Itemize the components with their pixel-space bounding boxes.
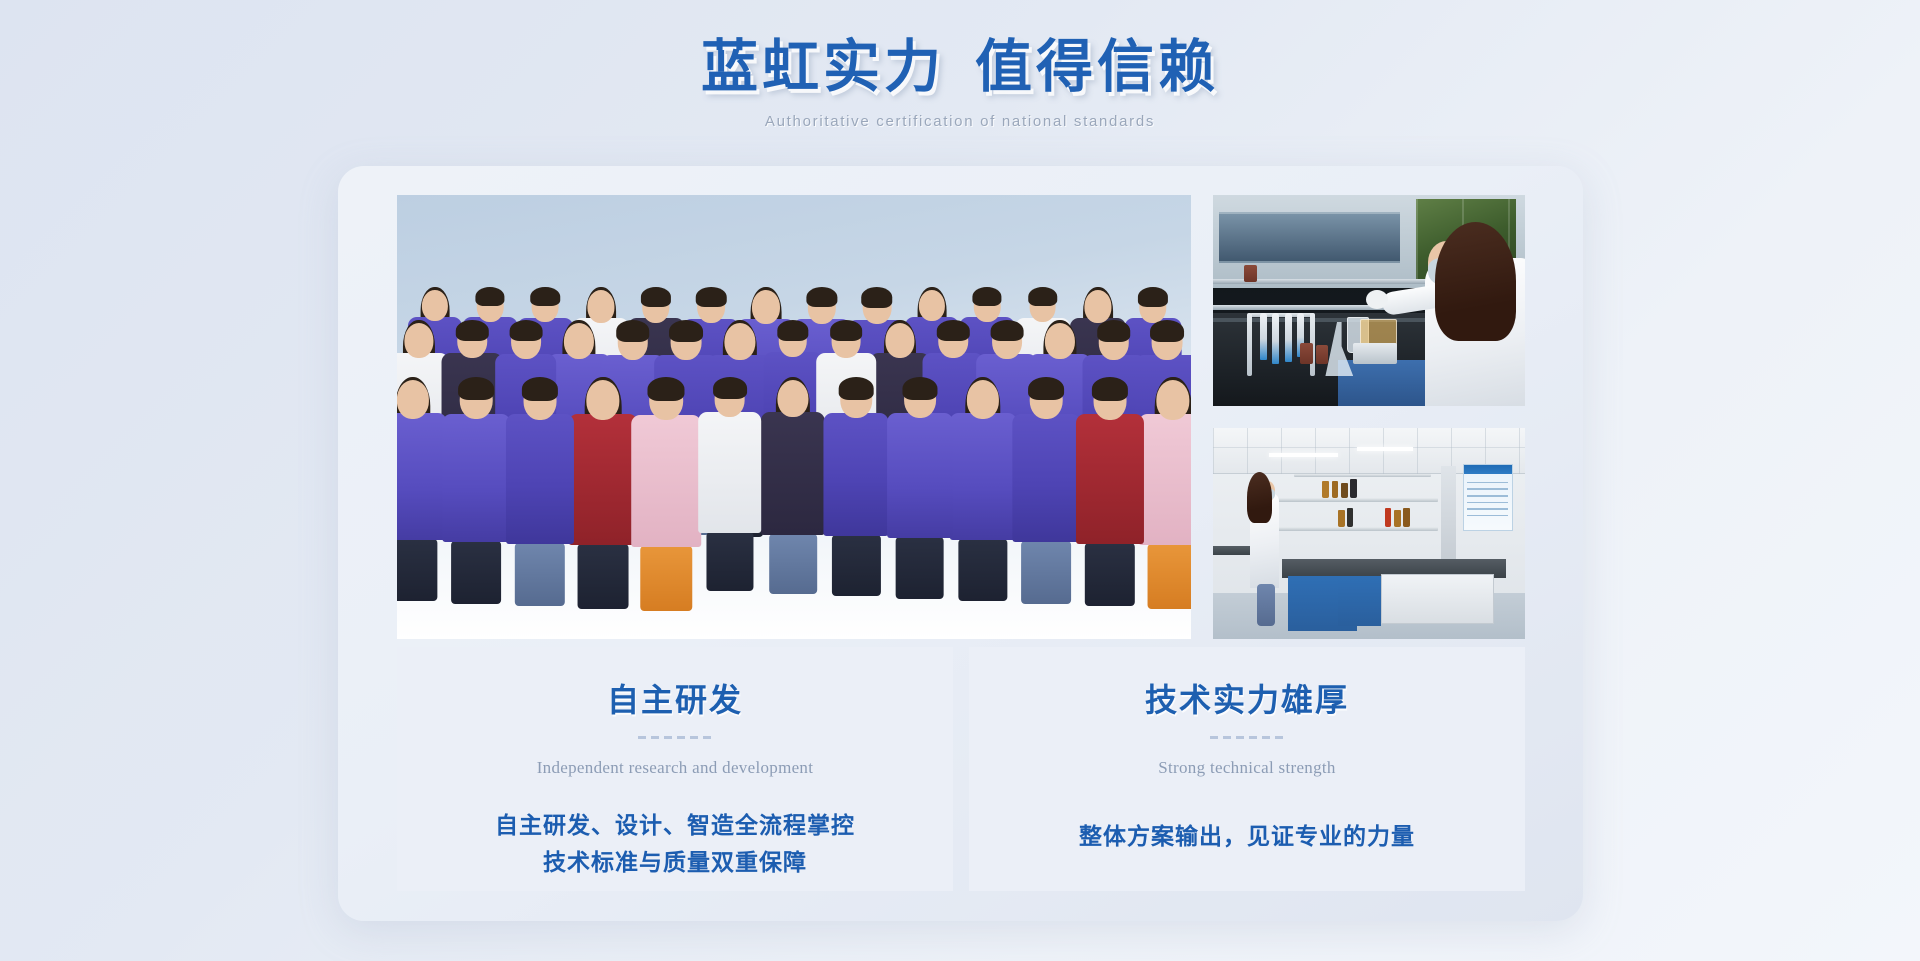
team-member-legs bbox=[641, 546, 692, 611]
team-member bbox=[887, 380, 953, 586]
team-member-legs bbox=[832, 535, 880, 596]
lab2-cabinet-blue-2 bbox=[1338, 576, 1382, 627]
team-member-head bbox=[967, 380, 999, 419]
team-member bbox=[506, 380, 574, 593]
team-member-legs bbox=[1021, 541, 1071, 604]
content-panel: 自主研发 Independent research and developmen… bbox=[338, 166, 1583, 921]
lab2-safety-poster bbox=[1463, 464, 1513, 532]
page-title: 蓝虹实力值得信赖 bbox=[0, 34, 1920, 101]
lab2-scene bbox=[1213, 428, 1525, 639]
team-member-legs bbox=[397, 539, 438, 601]
lab2-shelf-top bbox=[1294, 474, 1431, 477]
lab1-technician-glove bbox=[1366, 290, 1388, 309]
team-member-hair bbox=[937, 320, 969, 341]
lab2-bottle-2 bbox=[1332, 481, 1339, 498]
team-member-head bbox=[1084, 290, 1111, 323]
team-member bbox=[632, 380, 702, 598]
team-member-head bbox=[724, 323, 755, 360]
team-member-legs bbox=[769, 534, 817, 594]
team-member-head bbox=[587, 290, 614, 323]
feature-card-rnd-divider bbox=[638, 736, 712, 739]
team-member-head bbox=[1156, 380, 1189, 420]
lab2-shelf-upper bbox=[1275, 498, 1437, 502]
lab2-bottle-9 bbox=[1403, 508, 1409, 527]
feature-card-rnd-english: Independent research and development bbox=[397, 758, 953, 778]
feature-card-technical-description: 整体方案输出，见证专业的力量 bbox=[969, 818, 1525, 855]
feature-card-rnd-title: 自主研发 bbox=[397, 675, 953, 721]
team-member-uniform bbox=[506, 414, 574, 544]
team-member-uniform bbox=[397, 413, 446, 540]
feature-card-technical-desc-line-1: 整体方案输出，见证专业的力量 bbox=[969, 818, 1525, 855]
team-member-legs bbox=[706, 532, 753, 592]
team-member-hair bbox=[861, 287, 893, 308]
team-member-legs bbox=[578, 544, 629, 608]
team-member-uniform bbox=[1013, 414, 1080, 542]
team-member-hair bbox=[669, 320, 703, 342]
team-member-uniform bbox=[1139, 414, 1191, 545]
lab1-pipette-3 bbox=[1285, 313, 1292, 362]
team-member bbox=[824, 380, 889, 584]
team-member-hair bbox=[1097, 320, 1131, 342]
team-member-head bbox=[564, 323, 594, 359]
lab1-pipette-2 bbox=[1272, 313, 1279, 364]
team-member-hair bbox=[509, 320, 542, 341]
team-member-hair bbox=[1092, 377, 1128, 401]
team-member-hair bbox=[902, 377, 937, 400]
team-member-uniform bbox=[761, 412, 825, 534]
team-member-legs bbox=[958, 539, 1007, 601]
lab2-bottle-5 bbox=[1338, 510, 1345, 527]
team-member-hair bbox=[531, 287, 561, 306]
page-title-part2: 值得信赖 bbox=[975, 36, 1219, 99]
team-member bbox=[569, 380, 638, 595]
team-member bbox=[1139, 380, 1191, 595]
team-member-legs bbox=[895, 537, 944, 599]
team-member-hair bbox=[839, 377, 874, 400]
team-member-head bbox=[777, 380, 808, 417]
team-member-head bbox=[752, 290, 780, 324]
team-member bbox=[761, 380, 825, 581]
team-member-hair bbox=[476, 287, 505, 306]
team-member bbox=[1013, 380, 1080, 591]
lab2-bottle-4 bbox=[1350, 479, 1356, 498]
team-member-hair bbox=[696, 287, 727, 307]
team-member-legs bbox=[1148, 544, 1191, 608]
lab1-glass-cabinet bbox=[1219, 212, 1400, 263]
team-member bbox=[443, 380, 510, 591]
team-member-hair bbox=[648, 377, 685, 401]
team-member-legs bbox=[451, 541, 501, 604]
lab1-shelf-bottle bbox=[1244, 265, 1256, 282]
team-member-uniform bbox=[824, 413, 889, 537]
team-members-group bbox=[397, 195, 1191, 639]
team-member-hair bbox=[1150, 320, 1184, 342]
team-member-hair bbox=[990, 320, 1023, 341]
team-member-hair bbox=[973, 287, 1002, 306]
side-photo-column bbox=[1213, 195, 1525, 639]
team-member-legs bbox=[1084, 543, 1134, 607]
team-member-head bbox=[885, 323, 914, 358]
page-title-part1: 蓝虹实力 bbox=[701, 36, 945, 99]
lab2-cabinet-white bbox=[1381, 574, 1493, 625]
team-member-legs bbox=[514, 543, 564, 607]
lab2-shelf-lower bbox=[1275, 527, 1437, 531]
lab2-bottle-8 bbox=[1394, 510, 1401, 527]
page-subtitle: Authoritative certification of national … bbox=[0, 113, 1920, 130]
lab1-tube-rack bbox=[1353, 343, 1397, 364]
team-member-hair bbox=[458, 377, 494, 400]
team-member-hair bbox=[713, 377, 747, 399]
feature-card-technical-english: Strong technical strength bbox=[969, 758, 1525, 778]
feature-card-technical[interactable]: 技术实力雄厚 Strong technical strength 整体方案输出，… bbox=[969, 647, 1525, 891]
team-group-photo[interactable] bbox=[397, 195, 1191, 639]
team-member-head bbox=[1045, 323, 1075, 359]
lab-technician-photo[interactable] bbox=[1213, 195, 1525, 406]
feature-card-rnd[interactable]: 自主研发 Independent research and developmen… bbox=[397, 647, 953, 891]
feature-card-rnd-description: 自主研发、设计、智造全流程掌控 技术标准与质量双重保障 bbox=[397, 807, 953, 882]
lab2-researcher-legs bbox=[1257, 584, 1276, 626]
lab1-technician-hair bbox=[1435, 222, 1516, 340]
lab2-ceiling-lamp-2 bbox=[1357, 447, 1413, 451]
team-member bbox=[698, 380, 762, 579]
team-member-head bbox=[919, 290, 945, 321]
feature-cards: 自主研发 Independent research and developmen… bbox=[397, 647, 1525, 891]
feature-card-rnd-desc-line-1: 自主研发、设计、智造全流程掌控 bbox=[397, 807, 953, 844]
team-member-uniform bbox=[698, 412, 762, 533]
lab2-bottle-3 bbox=[1341, 483, 1348, 498]
team-member bbox=[950, 380, 1017, 588]
team-member-uniform bbox=[950, 413, 1017, 540]
team-member-uniform bbox=[443, 414, 510, 542]
lab2-ceiling-lamp-1 bbox=[1269, 453, 1338, 457]
lab1-reagent-bottle-1 bbox=[1300, 343, 1312, 364]
team-member-hair bbox=[831, 320, 863, 341]
lab1-scene bbox=[1213, 195, 1525, 406]
page-header: 蓝虹实力值得信赖 Authoritative certification of … bbox=[0, 0, 1920, 130]
team-member-head bbox=[422, 290, 448, 321]
team-member-hair bbox=[456, 320, 488, 341]
team-member-uniform bbox=[632, 415, 702, 547]
team-member-head bbox=[586, 380, 619, 420]
lab1-pipette-rack-leg-left bbox=[1247, 313, 1252, 376]
team-member-head bbox=[397, 380, 429, 419]
team-member-hair bbox=[616, 320, 650, 342]
lab-room-photo[interactable] bbox=[1213, 428, 1525, 639]
team-member-uniform bbox=[1076, 414, 1144, 544]
feature-card-technical-title: 技术实力雄厚 bbox=[969, 675, 1525, 721]
team-member bbox=[397, 380, 446, 588]
lab1-pipette-1 bbox=[1260, 313, 1267, 359]
lab2-bottle-1 bbox=[1322, 481, 1329, 498]
team-member-hair bbox=[1028, 287, 1058, 306]
team-member-hair bbox=[806, 287, 837, 307]
team-member-hair bbox=[1138, 287, 1168, 307]
team-member-hair bbox=[641, 287, 671, 307]
team-member-uniform bbox=[887, 413, 953, 538]
feature-card-technical-divider bbox=[1210, 736, 1284, 739]
feature-card-rnd-desc-line-2: 技术标准与质量双重保障 bbox=[397, 844, 953, 881]
lab2-bottle-7 bbox=[1385, 508, 1392, 527]
team-member-hair bbox=[1028, 377, 1064, 400]
lab1-reagent-bottle-2 bbox=[1316, 345, 1328, 364]
team-member-head bbox=[404, 323, 433, 358]
media-gallery bbox=[397, 195, 1525, 639]
lab2-researcher-hair bbox=[1247, 472, 1272, 523]
lab2-bottle-6 bbox=[1347, 508, 1353, 527]
team-member-hair bbox=[777, 320, 808, 341]
team-member bbox=[1076, 380, 1144, 593]
team-member-hair bbox=[522, 377, 558, 401]
team-member-uniform bbox=[569, 414, 638, 545]
